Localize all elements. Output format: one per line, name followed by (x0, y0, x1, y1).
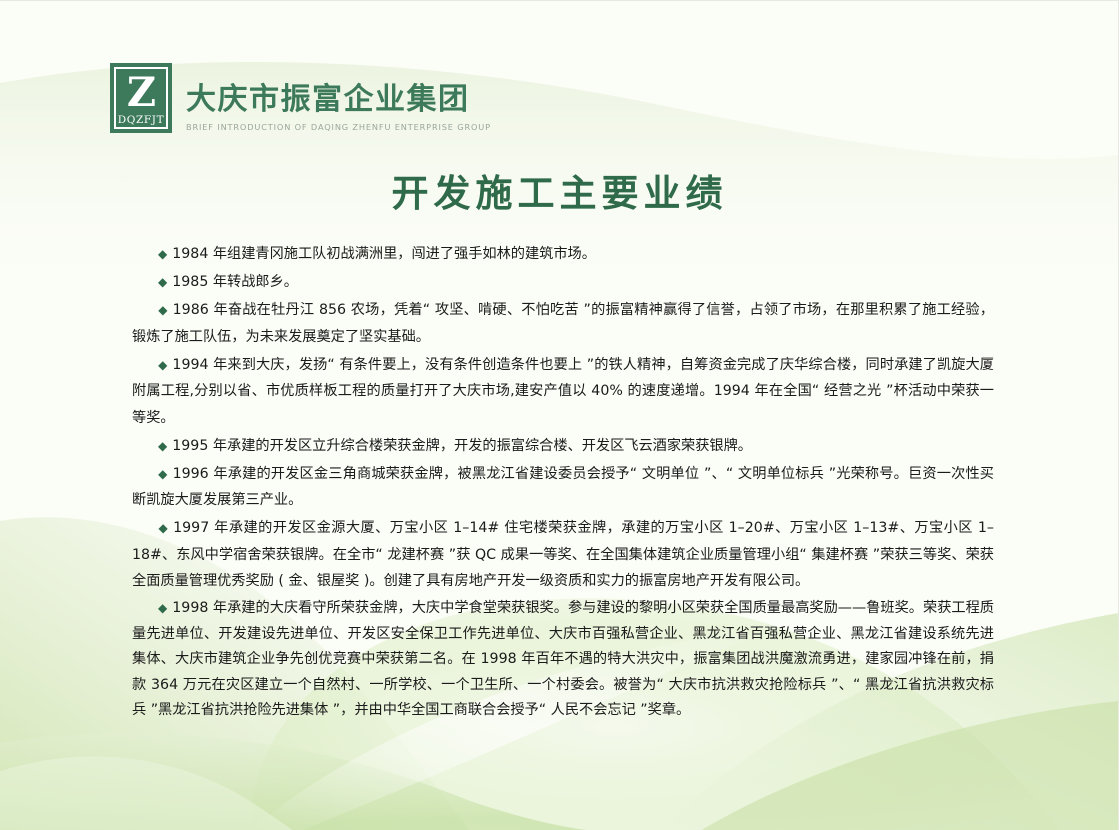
diamond-bullet-icon: ◆ (158, 358, 167, 372)
paragraph-text: 1995 年承建的开发区立升综合楼荣获金牌，开发的振富综合楼、开发区飞云酒家荣获… (172, 438, 752, 454)
achievement-paragraph: ◆1985 年转战郎乡。 (132, 269, 994, 296)
paragraph-text: 1986 年奋战在牡丹江 856 农场，凭着“ 攻坚、啃硬、不怕吃苦 ”的振富精… (132, 302, 994, 345)
company-name-english: BRIEF INTRODUCTION OF DAQING ZHENFU ENTE… (186, 122, 491, 132)
diamond-bullet-icon: ◆ (158, 467, 168, 481)
company-name-chinese: 大庆市振富企业集团 (186, 83, 491, 117)
achievement-paragraph: ◆1996 年承建的开发区金三角商城荣获金牌，被黑龙江省建设委员会授予“ 文明单… (132, 461, 994, 514)
diamond-bullet-icon: ◆ (158, 275, 167, 289)
achievement-paragraph: ◆1995 年承建的开发区立升综合楼荣获金牌，开发的振富综合楼、开发区飞云酒家荣… (132, 433, 994, 460)
achievements-body: ◆1984 年组建青冈施工队初战满洲里，闯进了强手如林的建筑市场。 ◆1985 … (132, 241, 994, 725)
paragraph-text: 1996 年承建的开发区金三角商城荣获金牌，被黑龙江省建设委员会授予“ 文明单位… (132, 466, 994, 509)
paragraph-text: 1998 年承建的大庆看守所荣获金牌，大庆中学食堂荣获银奖。参与建设的黎明小区荣… (132, 600, 994, 718)
slide-page: Z DQZFJT 大庆市振富企业集团 BRIEF INTRODUCTION OF… (0, 0, 1119, 830)
logo-inner-frame: Z DQZFJT (114, 67, 168, 129)
diamond-bullet-icon: ◆ (158, 247, 167, 261)
achievement-paragraph: ◆1997 年承建的开发区金源大厦、万宝小区 1–14# 住宅楼荣获金牌，承建的… (132, 515, 994, 595)
company-logo-icon: Z DQZFJT (110, 63, 172, 133)
diamond-bullet-icon: ◆ (158, 439, 167, 453)
diamond-bullet-icon: ◆ (158, 601, 167, 615)
paragraph-text: 1997 年承建的开发区金源大厦、万宝小区 1–14# 住宅楼荣获金牌，承建的万… (132, 520, 994, 589)
page-title: 开发施工主要业绩 (0, 171, 1119, 217)
achievement-paragraph: ◆1984 年组建青冈施工队初战满洲里，闯进了强手如林的建筑市场。 (132, 241, 994, 268)
brand-text-block: 大庆市振富企业集团 BRIEF INTRODUCTION OF DAQING Z… (186, 83, 491, 132)
paragraph-text: 1984 年组建青冈施工队初战满洲里，闯进了强手如林的建筑市场。 (172, 246, 596, 262)
paragraph-text: 1985 年转战郎乡。 (172, 274, 298, 290)
achievement-paragraph: ◆1998 年承建的大庆看守所荣获金牌，大庆中学食堂荣获银奖。参与建设的黎明小区… (132, 596, 994, 724)
paragraph-text: 1994 年来到大庆，发扬“ 有条件要上，没有条件创造条件也要上 ”的铁人精神，… (132, 357, 994, 426)
logo-abbreviation: DQZFJT (118, 114, 164, 126)
diamond-bullet-icon: ◆ (158, 303, 168, 317)
brand-header: Z DQZFJT 大庆市振富企业集团 BRIEF INTRODUCTION OF… (110, 63, 491, 133)
achievement-paragraph: ◆1994 年来到大庆，发扬“ 有条件要上，没有条件创造条件也要上 ”的铁人精神… (132, 352, 994, 432)
achievement-paragraph: ◆1986 年奋战在牡丹江 856 农场，凭着“ 攻坚、啃硬、不怕吃苦 ”的振富… (132, 297, 994, 350)
logo-letter-z: Z (127, 73, 155, 113)
diamond-bullet-icon: ◆ (158, 521, 168, 535)
